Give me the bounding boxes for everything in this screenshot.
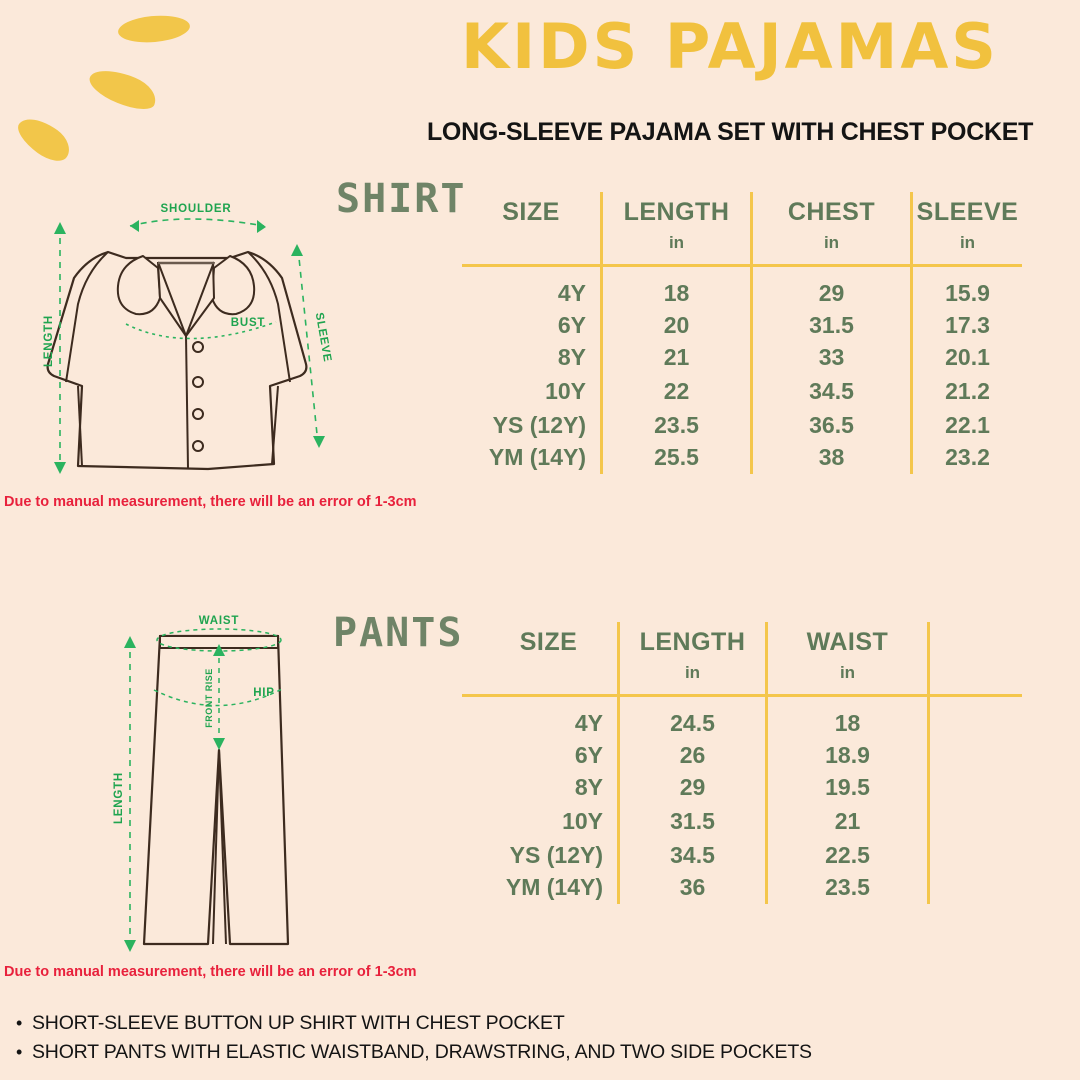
table-row: 8Y — [480, 774, 603, 801]
column-header-label: WAIST — [768, 628, 927, 657]
column-header-waist: WAIST in — [768, 628, 927, 683]
column-header-label: SIZE — [480, 628, 617, 657]
bullet-dot-icon: • — [16, 1043, 32, 1061]
column-header-label: LENGTH — [620, 628, 765, 657]
table-row: 21.2 — [913, 378, 1022, 405]
pants-measurement-diagram: WAIST HIP FRONT RISE LENGTH — [82, 600, 362, 960]
column-header-unit: in — [620, 663, 765, 683]
table-row: 23.2 — [913, 444, 1022, 471]
column-header-label: LENGTH — [603, 198, 750, 227]
column-header-length: LENGTH in — [620, 628, 765, 683]
column-header-label: SLEEVE — [913, 198, 1022, 227]
list-item-label: SHORT PANTS WITH ELASTIC WAISTBAND, DRAW… — [32, 1041, 812, 1064]
measurement-disclaimer: Due to manual measurement, there will be… — [4, 964, 417, 980]
svg-text:HIP: HIP — [253, 687, 275, 699]
list-item: • SHORT PANTS WITH ELASTIC WAISTBAND, DR… — [16, 1041, 916, 1064]
table-row: 6Y — [480, 742, 603, 769]
table-row: 10Y — [462, 378, 586, 405]
shirt-measurement-diagram: SHOULDER BUST LENGTH SLEEVE — [8, 186, 358, 486]
table-row: 38 — [753, 444, 910, 471]
svg-text:WAIST: WAIST — [199, 615, 239, 627]
column-header-label: CHEST — [753, 198, 910, 227]
table-row: 22.1 — [913, 412, 1022, 439]
table-row: 36.5 — [753, 412, 910, 439]
size-chart-page: KIDS PAJAMAS LONG-SLEEVE PAJAMA SET WITH… — [0, 0, 1080, 1080]
table-row: 31.5 — [620, 808, 765, 835]
column-header-label: SIZE — [462, 198, 600, 227]
column-header-empty — [930, 628, 1022, 634]
svg-text:BUST: BUST — [231, 317, 266, 329]
table-divider-horizontal — [462, 264, 1022, 267]
svg-text:FRONT RISE: FRONT RISE — [204, 668, 214, 728]
column-header-size: SIZE — [462, 198, 600, 233]
table-row: 6Y — [462, 312, 586, 339]
shirt-size-table: SIZE LENGTH in CHEST in SLEEVE in 4Y 18 … — [462, 192, 1022, 482]
table-row: 33 — [753, 344, 910, 371]
table-row: 4Y — [480, 710, 603, 737]
column-header-length: LENGTH in — [603, 198, 750, 253]
page-title: KIDS PAJAMAS — [400, 14, 1060, 79]
table-row: 23.5 — [603, 412, 750, 439]
table-row: 34.5 — [620, 842, 765, 869]
list-item-label: SHORT-SLEEVE BUTTON UP SHIRT WITH CHEST … — [32, 1012, 565, 1035]
page-subtitle: LONG-SLEEVE PAJAMA SET WITH CHEST POCKET — [400, 118, 1060, 147]
table-row: YS (12Y) — [462, 412, 586, 439]
column-header-size: SIZE — [480, 628, 617, 663]
table-row: 20.1 — [913, 344, 1022, 371]
table-row: 36 — [620, 874, 765, 901]
column-header-unit: in — [603, 233, 750, 253]
svg-text:SLEEVE: SLEEVE — [313, 312, 334, 364]
table-divider-vertical — [927, 622, 930, 904]
pants-size-table: SIZE LENGTH in WAIST in 4Y 24.5 18 6Y 26… — [462, 622, 1022, 912]
table-row: 20 — [603, 312, 750, 339]
decorative-blob-icon — [85, 62, 161, 116]
table-row: 29 — [620, 774, 765, 801]
column-header-unit: in — [913, 233, 1022, 253]
list-item: • SHORT-SLEEVE BUTTON UP SHIRT WITH CHES… — [16, 1012, 916, 1035]
column-header-sleeve: SLEEVE in — [913, 198, 1022, 253]
measurement-disclaimer: Due to manual measurement, there will be… — [4, 494, 417, 510]
table-row: 15.9 — [913, 280, 1022, 307]
table-row: 34.5 — [753, 378, 910, 405]
table-row: 8Y — [462, 344, 586, 371]
table-row: 26 — [620, 742, 765, 769]
table-row: 24.5 — [620, 710, 765, 737]
column-header-unit: in — [768, 663, 927, 683]
decorative-blob-icon — [117, 13, 191, 45]
table-row: 21 — [768, 808, 927, 835]
table-row: YS (12Y) — [480, 842, 603, 869]
table-row: 23.5 — [768, 874, 927, 901]
table-row: 22.5 — [768, 842, 927, 869]
table-row: 25.5 — [603, 444, 750, 471]
decorative-blob-icon — [12, 110, 77, 168]
svg-text:LENGTH: LENGTH — [113, 772, 125, 824]
feature-list: • SHORT-SLEEVE BUTTON UP SHIRT WITH CHES… — [16, 1012, 916, 1070]
table-row: 18 — [768, 710, 927, 737]
table-row: 19.5 — [768, 774, 927, 801]
column-header-unit: in — [753, 233, 910, 253]
bullet-dot-icon: • — [16, 1014, 32, 1032]
svg-text:SHOULDER: SHOULDER — [161, 203, 232, 215]
svg-text:LENGTH: LENGTH — [43, 315, 55, 367]
table-divider-horizontal — [462, 694, 1022, 697]
column-header-chest: CHEST in — [753, 198, 910, 253]
table-row: 22 — [603, 378, 750, 405]
table-row: YM (14Y) — [480, 874, 603, 901]
table-row: 29 — [753, 280, 910, 307]
table-row: YM (14Y) — [462, 444, 586, 471]
table-row: 21 — [603, 344, 750, 371]
table-row: 18.9 — [768, 742, 927, 769]
table-row: 18 — [603, 280, 750, 307]
table-row: 10Y — [480, 808, 603, 835]
table-row: 31.5 — [753, 312, 910, 339]
table-row: 17.3 — [913, 312, 1022, 339]
table-row: 4Y — [462, 280, 586, 307]
